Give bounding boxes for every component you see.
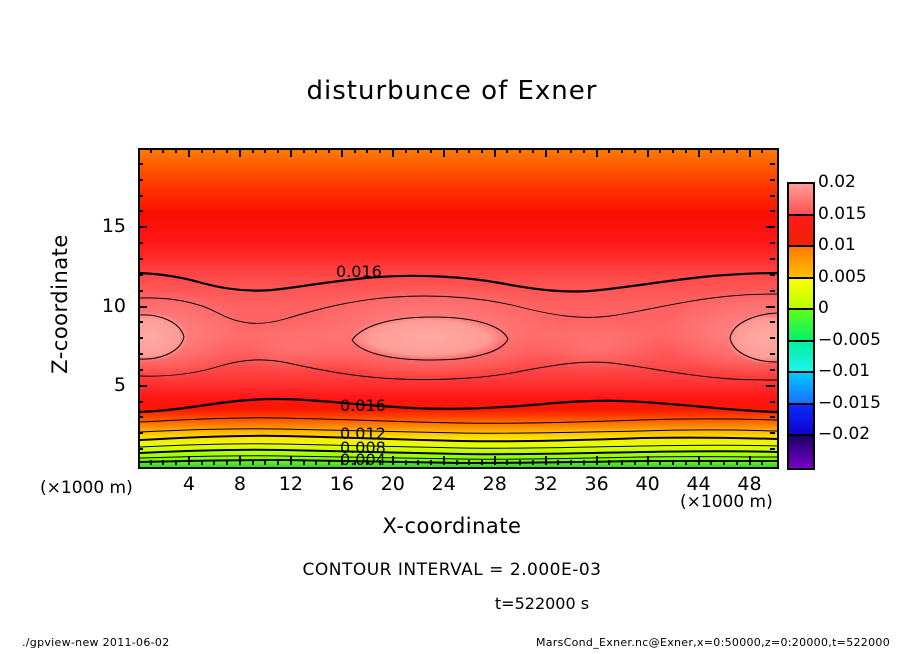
x-tick-top <box>188 148 190 157</box>
colorbar-band <box>789 342 813 374</box>
x-tick <box>379 460 381 465</box>
x-tick <box>315 460 317 465</box>
x-tick-top <box>506 148 508 153</box>
colorbar-tick-label: −0.01 <box>818 361 870 381</box>
x-tick-top <box>252 148 254 153</box>
x-tick-top <box>621 148 623 153</box>
x-tick-top <box>532 148 534 153</box>
x-tick <box>545 456 547 465</box>
x-tick-top <box>659 148 661 153</box>
y-tick-right <box>770 210 775 212</box>
contour-label-0016-lower: 0.016 <box>340 396 386 415</box>
y-tick-right <box>770 401 775 403</box>
x-tick-top <box>545 148 547 157</box>
contour-field <box>140 150 777 467</box>
x-tick <box>519 460 521 465</box>
x-tick <box>175 460 177 465</box>
colorbar-separator <box>787 277 815 279</box>
x-tick <box>213 460 215 465</box>
x-tick <box>698 456 700 465</box>
x-tick-top <box>749 148 751 157</box>
contour-plot-area: 0.016 0.016 0.012 0.008 0.004 <box>138 148 779 469</box>
x-tick-top <box>736 148 738 153</box>
x-tick-top <box>417 148 419 153</box>
x-tick <box>672 460 674 465</box>
colorbar-band <box>789 216 813 248</box>
x-tick <box>659 460 661 465</box>
x-tick-top <box>175 148 177 153</box>
x-tick-top <box>723 148 725 153</box>
colorbar-tick-label: 0.015 <box>818 204 867 224</box>
x-tick <box>506 460 508 465</box>
x-tick-top <box>468 148 470 153</box>
x-tick-top <box>456 148 458 153</box>
y-tick <box>138 448 143 450</box>
y-tick <box>138 306 147 308</box>
x-tick <box>557 460 559 465</box>
x-tick <box>608 460 610 465</box>
x-tick <box>634 460 636 465</box>
y-tick <box>138 401 143 403</box>
y-tick <box>138 432 143 434</box>
x-tick <box>188 456 190 465</box>
y-tick <box>138 321 143 323</box>
x-tick <box>277 460 279 465</box>
colorbar-tick-label: −0.02 <box>818 424 870 444</box>
y-tick <box>138 258 143 260</box>
x-tick-top <box>405 148 407 153</box>
x-tick-top <box>519 148 521 153</box>
time-stamp: t=522000 s <box>0 594 904 613</box>
x-axis-unit-right: (×1000 m) <box>680 492 773 512</box>
y-tick-right <box>766 385 775 387</box>
contour-interval-note: CONTOUR INTERVAL = 2.000E-03 <box>0 560 904 580</box>
y-tick <box>138 195 143 197</box>
x-tick-top <box>150 148 152 153</box>
x-tick <box>468 460 470 465</box>
x-tick <box>201 460 203 465</box>
x-tick <box>252 460 254 465</box>
x-tick-top <box>570 148 572 153</box>
x-tick-top <box>379 148 381 153</box>
y-tick <box>138 210 143 212</box>
x-tick <box>456 460 458 465</box>
x-tick-label: 48 <box>720 473 780 495</box>
colorbar-separator <box>787 214 815 216</box>
x-tick-top <box>698 148 700 157</box>
y-tick <box>138 353 143 355</box>
colorbar-tick-label: 0.005 <box>818 267 867 287</box>
y-tick-right <box>770 163 775 165</box>
x-tick-top <box>303 148 305 153</box>
x-tick <box>481 460 483 465</box>
y-tick-right <box>766 226 775 228</box>
colorbar-separator <box>787 245 815 247</box>
x-tick-top <box>290 148 292 157</box>
y-tick-right <box>770 195 775 197</box>
footer-command: ./gpview-new 2011-06-02 <box>22 636 170 649</box>
y-tick <box>138 274 143 276</box>
x-tick <box>749 456 751 465</box>
x-tick-top <box>608 148 610 153</box>
x-tick-top <box>213 148 215 153</box>
x-axis-title: X-coordinate <box>0 514 904 538</box>
x-tick-top <box>239 148 241 157</box>
x-tick <box>685 460 687 465</box>
y-tick-right <box>770 290 775 292</box>
x-tick <box>290 456 292 465</box>
x-tick <box>532 460 534 465</box>
y-tick-right <box>770 448 775 450</box>
x-tick-top <box>366 148 368 153</box>
x-tick-top <box>710 148 712 153</box>
colorbar-band <box>789 405 813 437</box>
x-tick-top <box>264 148 266 153</box>
x-tick-top <box>354 148 356 153</box>
colorbar-separator <box>787 308 815 310</box>
x-tick-top <box>672 148 674 153</box>
colorbar-band <box>789 310 813 342</box>
colorbar-separator <box>787 340 815 342</box>
x-tick <box>405 460 407 465</box>
x-axis-unit-left: (×1000 m) <box>40 478 133 498</box>
x-tick <box>583 460 585 465</box>
colorbar-band <box>789 279 813 311</box>
x-tick-top <box>430 148 432 153</box>
y-tick <box>138 226 147 228</box>
y-tick <box>138 163 143 165</box>
x-tick <box>596 456 598 465</box>
x-tick <box>264 460 266 465</box>
colorbar-separator <box>787 371 815 373</box>
x-tick-top <box>557 148 559 153</box>
y-tick-right <box>770 321 775 323</box>
y-tick-label: 15 <box>62 215 126 237</box>
page-title: disturbunce of Exner <box>0 76 904 106</box>
x-tick <box>417 460 419 465</box>
y-tick <box>138 242 143 244</box>
x-tick-top <box>685 148 687 153</box>
x-tick <box>710 460 712 465</box>
x-tick <box>328 460 330 465</box>
x-tick-top <box>761 148 763 153</box>
x-tick <box>392 456 394 465</box>
x-tick-top <box>392 148 394 157</box>
x-tick <box>736 460 738 465</box>
x-tick <box>570 460 572 465</box>
x-tick <box>723 460 725 465</box>
colorbar-separator <box>787 434 815 436</box>
x-tick-top <box>226 148 228 153</box>
x-tick-top <box>162 148 164 153</box>
y-tick-label: 5 <box>62 374 126 396</box>
x-tick <box>226 460 228 465</box>
x-tick-top <box>443 148 445 157</box>
y-tick-right <box>770 416 775 418</box>
x-tick <box>239 456 241 465</box>
x-tick <box>647 456 649 465</box>
colorbar <box>787 182 815 470</box>
contour-label-0016-upper: 0.016 <box>336 262 382 281</box>
x-tick <box>162 460 164 465</box>
colorbar-band <box>789 436 813 468</box>
colorbar-tick-label: −0.015 <box>818 393 881 413</box>
x-tick-top <box>201 148 203 153</box>
colorbar-band <box>789 373 813 405</box>
y-tick-right <box>770 432 775 434</box>
y-tick-right <box>770 179 775 181</box>
y-tick-right <box>770 274 775 276</box>
y-tick <box>138 179 143 181</box>
y-tick <box>138 369 143 371</box>
colorbar-band <box>789 247 813 279</box>
y-tick <box>138 416 143 418</box>
x-tick <box>341 456 343 465</box>
y-tick-right <box>770 369 775 371</box>
x-tick-top <box>596 148 598 157</box>
x-tick <box>430 460 432 465</box>
colorbar-tick-label: 0.01 <box>818 235 856 255</box>
x-tick-top <box>494 148 496 157</box>
colorbar-tick-label: −0.005 <box>818 330 881 350</box>
x-tick-top <box>328 148 330 153</box>
x-tick <box>761 460 763 465</box>
y-tick-right <box>770 353 775 355</box>
y-tick-right <box>770 337 775 339</box>
y-tick-label: 10 <box>62 295 126 317</box>
y-tick <box>138 337 143 339</box>
x-tick-top <box>277 148 279 153</box>
y-tick-right <box>770 258 775 260</box>
x-tick <box>354 460 356 465</box>
x-tick <box>366 460 368 465</box>
x-tick <box>621 460 623 465</box>
colorbar-separator <box>787 403 815 405</box>
colorbar-tick-label: 0 <box>818 298 829 318</box>
x-tick-top <box>634 148 636 153</box>
x-tick-top <box>647 148 649 157</box>
x-tick <box>494 456 496 465</box>
y-tick <box>138 290 143 292</box>
x-tick-top <box>315 148 317 153</box>
y-tick-right <box>766 306 775 308</box>
x-tick-top <box>481 148 483 153</box>
colorbar-tick-label: 0.02 <box>818 172 856 192</box>
x-tick-top <box>583 148 585 153</box>
footer-source: MarsCond_Exner.nc@Exner,x=0:50000,z=0:20… <box>536 636 890 649</box>
x-tick <box>303 460 305 465</box>
y-tick <box>138 385 147 387</box>
x-tick <box>150 460 152 465</box>
x-tick-top <box>341 148 343 157</box>
x-tick <box>443 456 445 465</box>
colorbar-band <box>789 184 813 216</box>
y-tick-right <box>770 242 775 244</box>
